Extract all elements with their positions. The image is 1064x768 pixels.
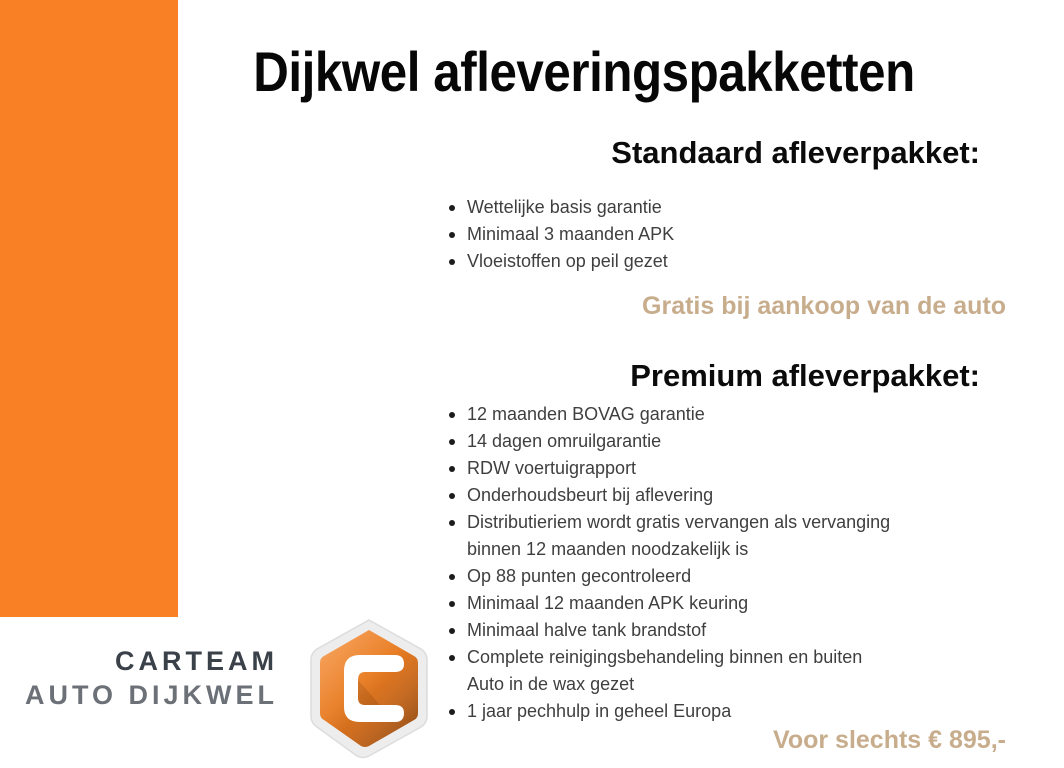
standard-package-list: Wettelijke basis garantie Minimaal 3 maa…	[446, 194, 674, 275]
list-item: RDW voertuigrapport	[446, 455, 890, 482]
standard-package-tagline: Gratis bij aankoop van de auto	[642, 293, 1006, 321]
list-item: Minimaal halve tank brandstof	[446, 617, 890, 644]
premium-package-list: 12 maanden BOVAG garantie 14 dagen omrui…	[446, 401, 890, 725]
orange-accent-bar	[0, 0, 178, 617]
list-item: Vloeistoffen op peil gezet	[446, 248, 674, 275]
premium-package-heading: Premium afleverpakket:	[630, 359, 980, 393]
carteam-hexagon-c-logo-icon	[308, 617, 430, 759]
brand-name-carteam: CARTEAM	[0, 644, 278, 678]
list-item: 1 jaar pechhulp in geheel Europa	[446, 698, 890, 725]
list-item: Minimaal 12 maanden APK keuring	[446, 590, 890, 617]
brand-wordmark: CARTEAM AUTO DIJKWEL	[0, 644, 278, 712]
brand-name-auto-dijkwel: AUTO DIJKWEL	[0, 678, 278, 712]
page-title: Dijkwel afleveringspakketten	[234, 44, 934, 100]
list-item: Onderhoudsbeurt bij aflevering	[446, 482, 890, 509]
list-item: 12 maanden BOVAG garantie	[446, 401, 890, 428]
list-item: 14 dagen omruilgarantie	[446, 428, 890, 455]
list-item: Minimaal 3 maanden APK	[446, 221, 674, 248]
premium-package-price: Voor slechts € 895,-	[773, 727, 1006, 755]
poster-canvas: Dijkwel afleveringspakketten Standaard a…	[0, 0, 1064, 768]
standard-package-heading: Standaard afleverpakket:	[611, 136, 980, 170]
list-item: Complete reinigingsbehandeling binnen en…	[446, 644, 890, 698]
list-item: Wettelijke basis garantie	[446, 194, 674, 221]
list-item: Op 88 punten gecontroleerd	[446, 563, 890, 590]
list-item: Distributieriem wordt gratis vervangen a…	[446, 509, 890, 563]
